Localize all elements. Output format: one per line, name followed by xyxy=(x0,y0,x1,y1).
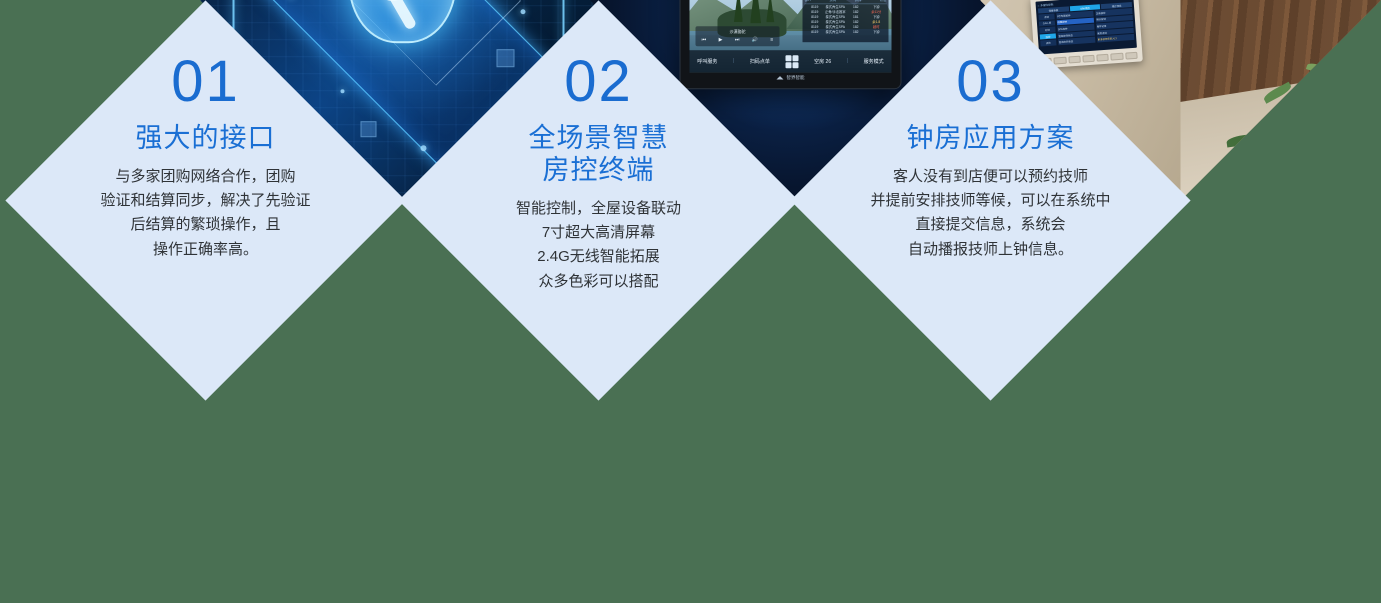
cell-status: 下钟 xyxy=(866,30,887,35)
panel-2-title: 全场景智慧 房控终端 xyxy=(529,123,669,187)
hardware-button[interactable] xyxy=(1125,52,1138,60)
chip-block xyxy=(497,49,515,67)
bottom-button-vacant-rooms[interactable]: 空房 26 xyxy=(814,58,831,65)
body-line: 众多色彩可以搭配 xyxy=(454,270,744,294)
table-header-cell: 状态 xyxy=(880,0,887,2)
menu-left-4[interactable]: 查询房间状态 xyxy=(1058,37,1096,45)
table-header-cell: 房间 xyxy=(830,0,837,2)
glow-dot xyxy=(521,9,526,14)
next-icon[interactable]: ⏭ xyxy=(735,37,740,43)
panel-1-number: 01 xyxy=(171,53,240,111)
panel-2-body: 智能控制，全屋设备联动 7寸超大高清屏幕 2.4G无线智能拓展 众多色彩可以搭配 xyxy=(454,197,744,294)
feature-diamond-grid: CHIBO 22:35 SPA6房 26℃ 11 xyxy=(0,0,1381,603)
body-line: 智能控制，全屋设备联动 xyxy=(454,197,744,221)
plant-leaf xyxy=(1306,61,1333,77)
left-button-1[interactable]: CALL师 xyxy=(1039,20,1055,27)
plant-foliage xyxy=(1323,93,1365,129)
left-button-3[interactable]: 加钟 xyxy=(1040,33,1056,40)
body-line: 自动播报技师上钟信息。 xyxy=(846,238,1136,262)
hardware-button[interactable] xyxy=(1082,55,1095,63)
volume-icon[interactable]: 🔊 xyxy=(752,37,758,43)
glow-dot xyxy=(341,89,345,93)
title-line: 全场景智慧 xyxy=(529,123,669,155)
body-line: 后结算的繁琐操作，且 xyxy=(60,214,350,238)
tablet-device: CHIBO 22:35 SPA6房 26℃ 11 xyxy=(680,0,902,89)
table-row: 8119 泰式养生SPA 182 下钟 xyxy=(805,30,887,35)
bottom-button-scan-order[interactable]: 扫码点单 xyxy=(750,58,770,65)
table-header-row: 钟人 房间 钟师 状态 xyxy=(805,0,887,4)
title-line: 强大的接口 xyxy=(136,123,276,155)
hardware-button[interactable] xyxy=(1111,53,1124,61)
brand-name: 智界智能 xyxy=(786,75,804,81)
left-button-0[interactable]: 点钟 xyxy=(1038,13,1054,20)
body-line: 操作正确率高。 xyxy=(60,238,350,262)
hardware-button[interactable] xyxy=(1096,54,1109,62)
body-line: 验证和结算同步，解决了先验证 xyxy=(61,189,351,213)
hardware-button[interactable] xyxy=(1054,57,1067,65)
bottom-button-call-service[interactable]: 呼叫服务 xyxy=(697,58,717,65)
apps-grid-icon[interactable] xyxy=(786,55,799,68)
brand-logo-icon: ◢◣ xyxy=(777,75,784,81)
tablet-bottom-bar[interactable]: 呼叫服务 | 扫码点单 空房 26 | 服务模式 xyxy=(690,50,892,72)
panel-3-number: 03 xyxy=(956,53,1025,111)
table-header-cell: 钟师 xyxy=(855,0,862,2)
body-line: 2.4G无线智能拓展 xyxy=(454,246,744,270)
player-controls[interactable]: ⏮ ▶ ⏭ 🔊 ≡ xyxy=(696,37,780,43)
music-player-widget[interactable]: 沙漠骆驼 ⏮ ▶ ⏭ 🔊 ≡ xyxy=(696,26,780,46)
list-icon[interactable]: ≡ xyxy=(770,37,773,43)
cell-id: 8119 xyxy=(805,30,826,35)
body-line: 客人没有到店便可以预约技师 xyxy=(846,165,1136,189)
home-icon: ⌂ xyxy=(1038,4,1040,7)
panel-1-title: 强大的接口 xyxy=(136,123,276,155)
body-line: 直接提交信息，系统会 xyxy=(846,214,1136,238)
title-line: 钟房应用方案 xyxy=(907,123,1075,155)
hardware-button[interactable] xyxy=(1068,56,1081,64)
panel-menu-left[interactable]: 6号专案按钟 保健按钟 SPA加钟 查询技师状态 查询房间状态 xyxy=(1056,11,1096,52)
chip-block xyxy=(361,121,377,137)
tablet-foot-brand: ◢◣ 智界智能 xyxy=(690,75,892,81)
cell-room: 泰式养生SPA xyxy=(825,30,846,35)
panel-left-buttons[interactable]: 点钟 CALL师 轮钟 加钟 点钟 xyxy=(1038,13,1057,52)
prev-icon[interactable]: ⏮ xyxy=(702,37,707,43)
tablet-screen: 22:35 SPA6房 26℃ 11/24 钟人 房间 钟师 状态 xyxy=(690,0,892,72)
table-header-cell: 钟人 xyxy=(805,0,812,2)
body-line: 7寸超大高清屏幕 xyxy=(454,221,744,245)
play-icon[interactable]: ▶ xyxy=(719,37,723,43)
glow-dot xyxy=(421,145,427,151)
left-button-2[interactable]: 轮钟 xyxy=(1039,27,1055,34)
left-button-4[interactable]: 点钟 xyxy=(1040,40,1056,47)
control-panel-screen[interactable]: ⌂ 多媒体控制 保健专案 SPA项目 理疗项目 点钟 CALL师 轮钟 加钟 xyxy=(1035,0,1136,55)
panel-2-number: 02 xyxy=(564,53,633,111)
cell-tech: 182 xyxy=(846,30,867,35)
divider: | xyxy=(847,58,848,64)
plant-foliage xyxy=(1263,133,1317,177)
player-track-title: 沙漠骆驼 xyxy=(696,26,780,35)
panel-menu-right[interactable]: 正骨按钟 理疗按钟 看钟记录 客房点钟 更多技师项目入口 xyxy=(1095,8,1135,49)
menu-right-4[interactable]: 更多技师项目入口 xyxy=(1097,34,1135,42)
panel-1-body: 与多家团购网络合作，团购 验证和结算同步，解决了先验证 后结算的繁琐操作，且 操… xyxy=(61,165,351,262)
bottom-button-service-mode[interactable]: 服务模式 xyxy=(864,58,884,65)
title-line: 房控终端 xyxy=(529,155,669,187)
panel-3-body: 客人没有到店便可以预约技师 并提前安排技师等候，可以在系统中 直接提交信息，系统… xyxy=(846,165,1136,262)
panel-3-title: 钟房应用方案 xyxy=(907,123,1075,155)
body-line: 并提前安排技师等候，可以在系统中 xyxy=(846,189,1136,213)
body-line: 与多家团购网络合作，团购 xyxy=(61,165,351,189)
divider: | xyxy=(733,58,734,64)
panel-body[interactable]: 点钟 CALL师 轮钟 加钟 点钟 6号专案按钟 保健按钟 SPA加钟 查询技师… xyxy=(1038,8,1134,52)
service-table: 钟人 房间 钟师 状态 8119 泰式养生SPA 182 下钟 8119 xyxy=(803,0,889,42)
